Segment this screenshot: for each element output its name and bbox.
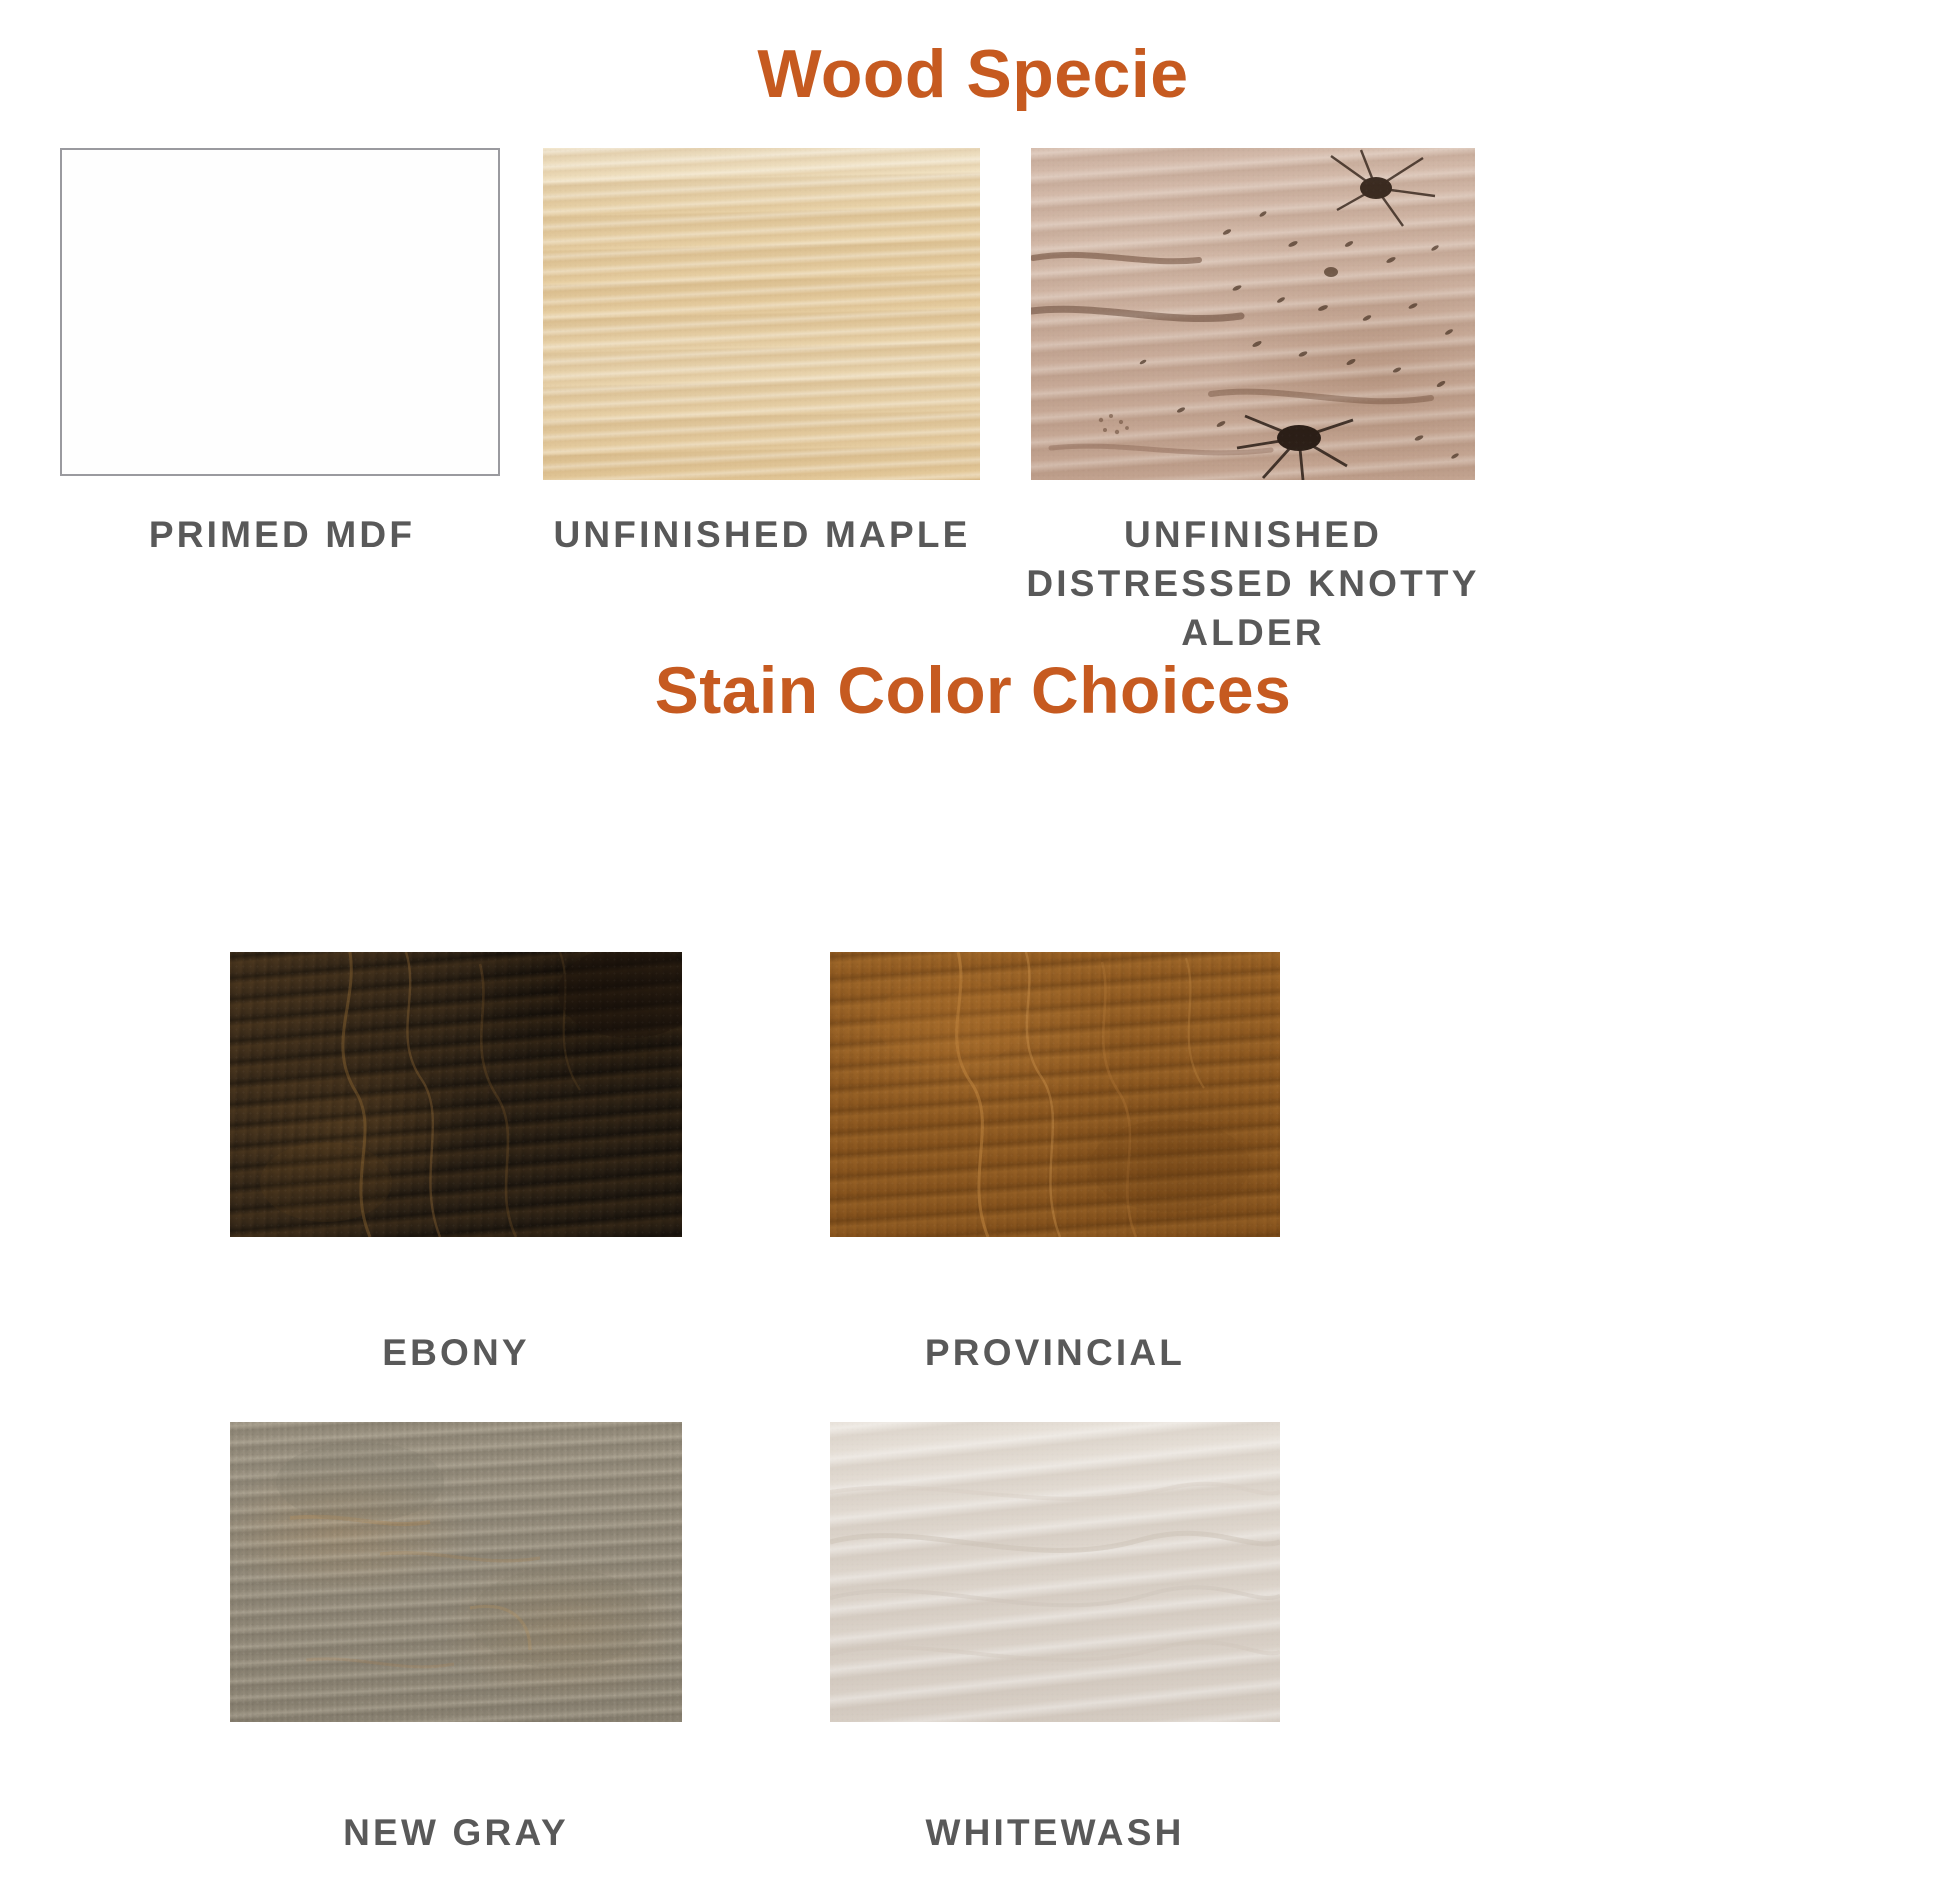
swatch-label-provincial: PROVINCIAL bbox=[745, 1328, 1365, 1377]
swatch-label-knotty-alder: UNFINISHED DISTRESSED KNOTTY ALDER bbox=[933, 510, 1573, 657]
alder-grain-speckle bbox=[1031, 148, 1475, 480]
swatch-label-ebony: EBONY bbox=[176, 1328, 736, 1377]
provincial-grain-speckle bbox=[830, 952, 1280, 1237]
whitewash-grain-speckle bbox=[830, 1422, 1280, 1722]
new-gray-grain-speckle bbox=[230, 1422, 682, 1722]
swatch-primed-mdf[interactable] bbox=[60, 148, 500, 476]
stain-color-choices-heading: Stain Color Choices bbox=[0, 655, 1946, 725]
swatch-new-gray[interactable] bbox=[230, 1422, 682, 1722]
swatch-provincial-sample[interactable] bbox=[830, 952, 1280, 1237]
swatch-primed-mdf-sample[interactable] bbox=[60, 148, 500, 476]
maple-grain-speckle bbox=[543, 148, 980, 480]
swatch-unfinished-maple-sample[interactable] bbox=[543, 148, 980, 480]
swatch-ebony[interactable] bbox=[230, 952, 682, 1237]
finish-options-board: Wood Specie PRIMED MDF UNFINISHED MAPLE bbox=[0, 0, 1946, 1892]
swatch-whitewash[interactable] bbox=[830, 1422, 1280, 1722]
swatch-ebony-sample[interactable] bbox=[230, 952, 682, 1237]
swatch-knotty-alder[interactable] bbox=[1031, 148, 1475, 480]
ebony-grain-speckle bbox=[230, 952, 682, 1237]
swatch-label-whitewash: WHITEWASH bbox=[745, 1808, 1365, 1857]
wood-specie-heading: Wood Specie bbox=[0, 38, 1946, 110]
swatch-knotty-alder-sample[interactable] bbox=[1031, 148, 1475, 480]
swatch-unfinished-maple[interactable] bbox=[543, 148, 980, 480]
swatch-label-new-gray: NEW GRAY bbox=[176, 1808, 736, 1857]
swatch-whitewash-sample[interactable] bbox=[830, 1422, 1280, 1722]
swatch-provincial[interactable] bbox=[830, 952, 1280, 1237]
swatch-new-gray-sample[interactable] bbox=[230, 1422, 682, 1722]
